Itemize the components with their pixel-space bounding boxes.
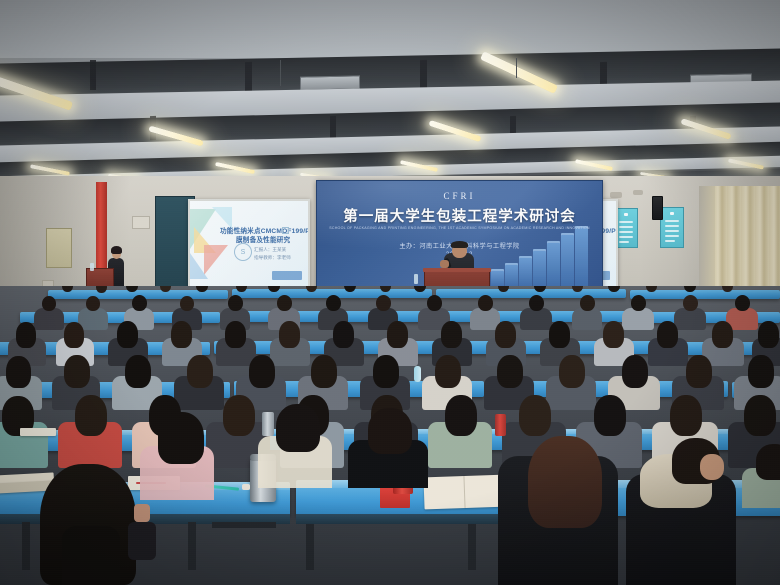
left-projection-screen[interactable]: 功能性纳米点CMCMOF199/PVA 膜制备及性能研究 S 汇报人：王某某 指… xyxy=(188,199,310,288)
audience-head xyxy=(132,295,147,311)
foreground-person-hair-brown xyxy=(528,436,602,528)
audience-hair xyxy=(758,321,779,348)
slide-marker-icon xyxy=(282,227,289,234)
wall-sign-left xyxy=(132,216,150,229)
poster-text-line xyxy=(665,225,679,227)
water-bottle xyxy=(90,263,94,271)
audience-hair xyxy=(657,321,678,348)
audience-hair xyxy=(622,355,648,388)
poster-title-line xyxy=(670,212,674,215)
audience-head xyxy=(180,296,194,311)
standing-staff-hair xyxy=(111,246,122,254)
ceiling xyxy=(0,0,780,185)
desk-leg xyxy=(188,522,196,570)
audience-head xyxy=(326,295,341,311)
audience-hair xyxy=(333,321,354,348)
audience-hair xyxy=(125,355,151,388)
window-curtain xyxy=(713,186,780,292)
foreground-person-sleeve xyxy=(128,522,156,560)
desk-rail xyxy=(212,522,276,528)
audience-hair xyxy=(519,395,551,436)
audience-head xyxy=(427,295,442,311)
electrical-panel xyxy=(46,228,72,268)
wall-fixture xyxy=(610,192,622,198)
audience-head xyxy=(86,296,100,311)
audience-head xyxy=(478,295,493,311)
poster-text-line xyxy=(665,240,675,242)
audience-hair xyxy=(311,355,337,388)
slide-footer-bar xyxy=(272,271,302,280)
audience-hair xyxy=(748,355,774,388)
foreground-person-hand xyxy=(134,504,150,522)
presenter-hair xyxy=(451,241,468,248)
audience-torso xyxy=(572,308,602,330)
poster-text-line xyxy=(619,221,633,223)
audience-hair xyxy=(225,321,246,348)
poster-text-line xyxy=(619,241,629,243)
poster-text-line xyxy=(619,231,633,233)
water-bottle xyxy=(414,274,418,284)
water-bottle xyxy=(414,366,421,382)
poster-text-line xyxy=(619,226,633,228)
light-hanger xyxy=(280,60,281,86)
desk-leg xyxy=(306,524,314,570)
banner-bar-graphic xyxy=(491,269,504,287)
audience-hair xyxy=(594,395,626,436)
audience-hair xyxy=(445,395,477,436)
audience-hair xyxy=(756,444,780,480)
audience-hair xyxy=(441,321,462,348)
audience-hair xyxy=(549,321,570,348)
podium-top xyxy=(423,268,491,272)
audience-hair xyxy=(117,321,138,348)
notebook xyxy=(20,428,56,436)
audience-hair xyxy=(187,355,213,388)
poster-title-line xyxy=(624,213,628,216)
audience-hair xyxy=(171,321,192,348)
audience-hair xyxy=(559,355,585,388)
audience-hair xyxy=(64,322,84,348)
wall-fixture xyxy=(633,190,643,195)
banner-subtitle-en: SCHOOL OF PACKAGING AND PRINTING ENGINEE… xyxy=(317,226,602,230)
audience-head xyxy=(228,295,243,311)
audience-hair xyxy=(373,355,399,388)
ceiling-slab xyxy=(0,0,780,58)
lecture-hall-photo: 功能性纳米点CMCMOF199/PVA 膜制备及性能研究 S 汇报人：王某某 指… xyxy=(0,0,780,585)
banner-bar-graphic xyxy=(519,256,532,287)
audience-torso xyxy=(622,308,654,330)
audience-head xyxy=(631,295,646,311)
audience-hair xyxy=(495,321,516,348)
audience-head xyxy=(277,295,292,311)
curtain-edge xyxy=(699,186,715,292)
audience-face xyxy=(700,454,724,480)
audience-hair xyxy=(387,321,408,348)
audience-hair xyxy=(223,395,255,436)
audience-hair xyxy=(497,355,523,388)
audience-hair xyxy=(249,355,275,388)
audience-hair xyxy=(603,321,624,348)
banner-title: 第一届大学生包装工程学术研讨会 xyxy=(317,205,602,226)
audience-head xyxy=(42,296,56,311)
tissue xyxy=(242,484,250,490)
audience-torso xyxy=(34,308,64,330)
light-hanger xyxy=(516,58,517,78)
audience-torso xyxy=(520,308,552,330)
slide-logo-badge: S xyxy=(234,243,252,261)
thermos-silver xyxy=(262,412,274,436)
desk-leg xyxy=(468,524,476,570)
audience-head xyxy=(376,295,391,311)
poster-text-line xyxy=(665,235,679,237)
audience-hair xyxy=(64,355,90,388)
audience-hair xyxy=(435,355,461,388)
audience-head xyxy=(580,295,595,311)
poster-text-line xyxy=(665,230,679,232)
banner-acronym: CFRI xyxy=(317,191,602,201)
slide-presenter-line2: 指导教师：李老师 xyxy=(254,255,291,261)
audience-torso xyxy=(674,308,706,330)
presenter-hand xyxy=(440,260,449,268)
audience-hair xyxy=(16,322,36,348)
audience-hair xyxy=(75,395,107,436)
audience-hair xyxy=(279,321,300,348)
foreground-person-body xyxy=(62,526,120,585)
audience-hair xyxy=(670,395,702,436)
wall-speaker xyxy=(652,196,663,220)
notice-poster-right xyxy=(660,207,684,248)
thermos-red xyxy=(495,414,506,436)
audience-hair xyxy=(368,408,412,454)
desk-leg xyxy=(22,522,30,570)
audience-head xyxy=(683,295,698,311)
audience-hair xyxy=(158,412,204,464)
audience-hair xyxy=(712,321,733,348)
audience-hair xyxy=(276,404,320,452)
ceiling-beam xyxy=(245,62,252,92)
ceiling-beam xyxy=(90,60,96,90)
audience-head xyxy=(735,295,750,311)
poster-text-line xyxy=(665,220,679,222)
seating-area xyxy=(0,286,780,585)
audience-hair xyxy=(686,355,712,388)
audience-head xyxy=(529,295,544,311)
audience-hair xyxy=(6,356,31,388)
audience-hair xyxy=(744,395,776,436)
poster-text-line xyxy=(619,236,633,238)
banner-bar-graphic xyxy=(505,263,518,287)
slide-presenter-line1: 汇报人：王某某 xyxy=(254,247,286,253)
